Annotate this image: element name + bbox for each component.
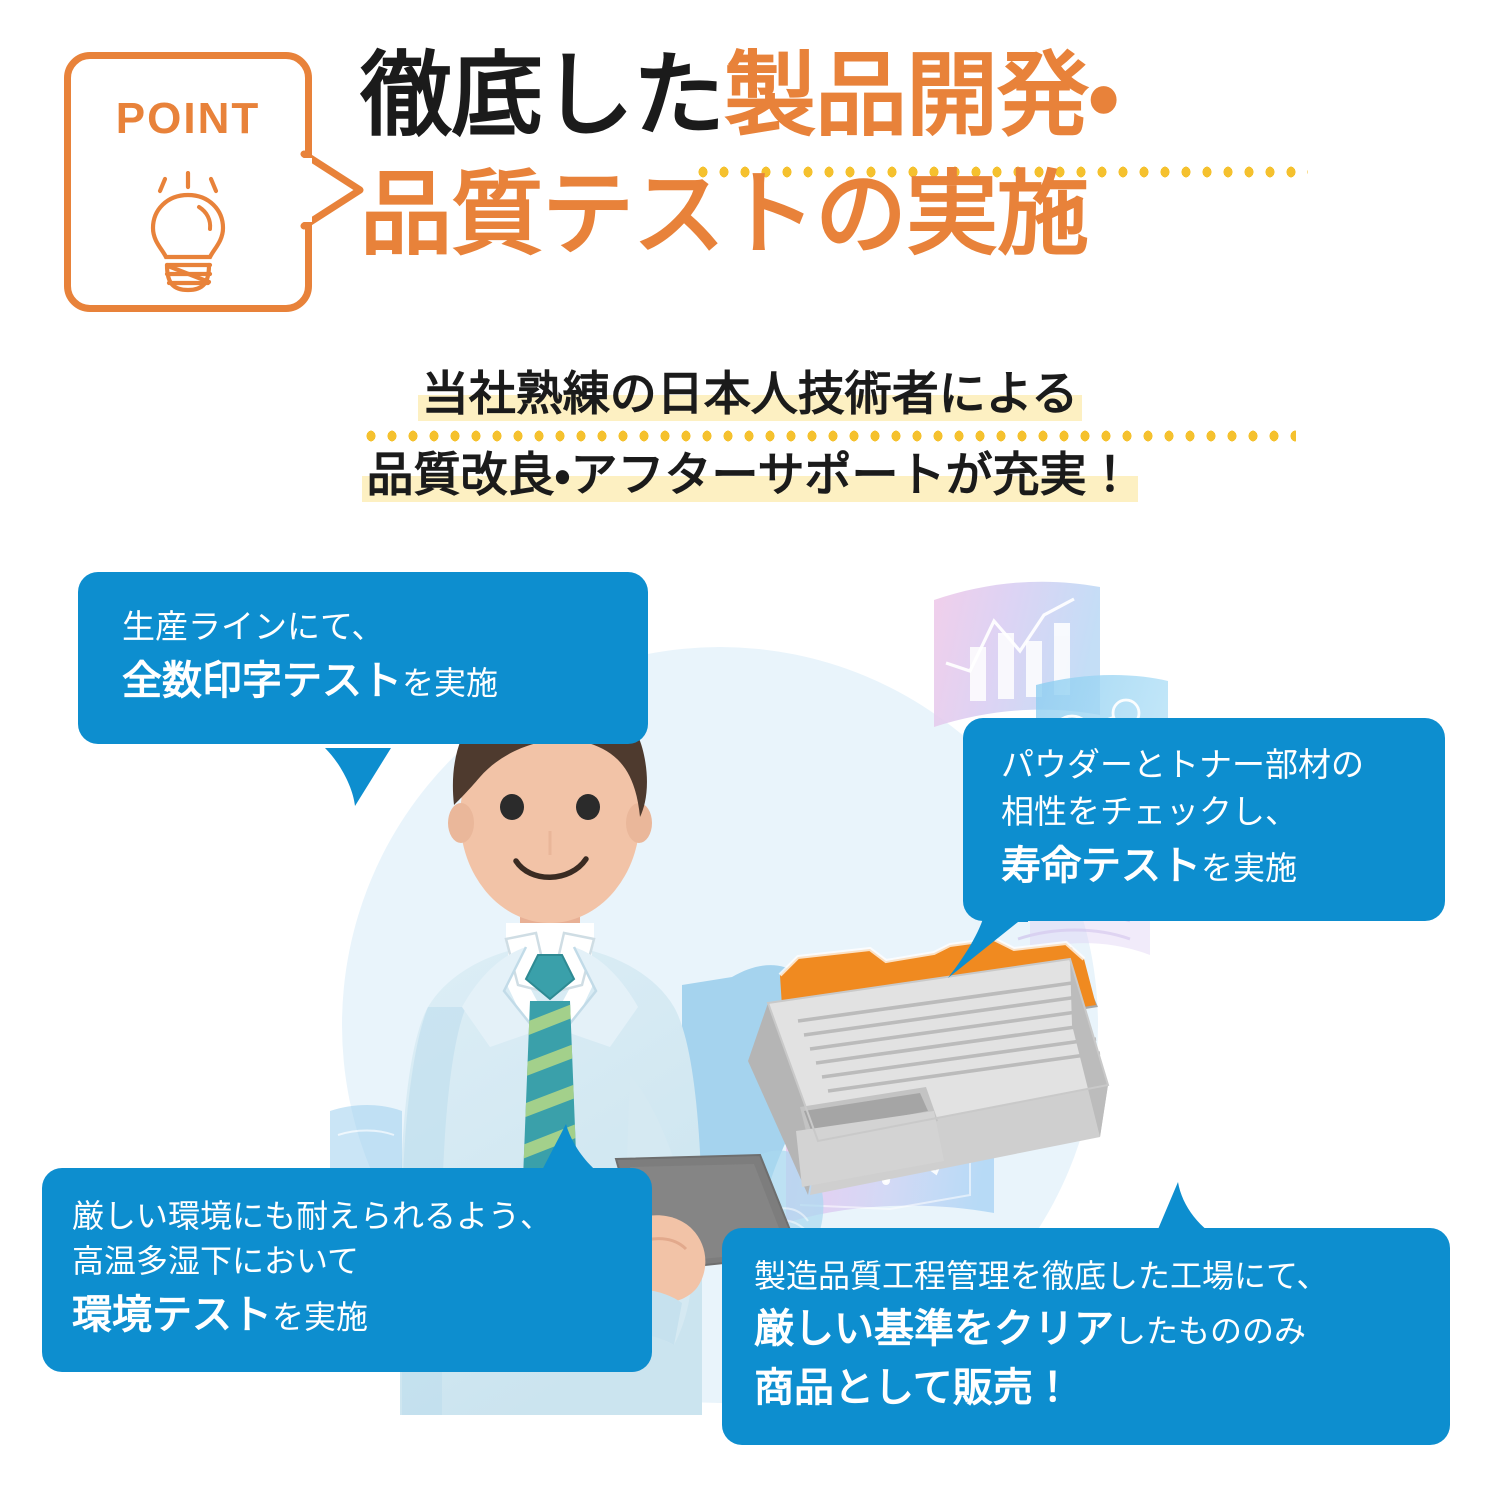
bubble-print-test: 生産ラインにて、 全数印字テストを実施 [78, 572, 648, 744]
bubble-print-line2-bold: 全数印字テスト [122, 659, 402, 703]
bubble-print-test-tail [325, 748, 395, 806]
bubble-factory-line2-bold: 厳しい基準をクリア [754, 1307, 1114, 1351]
bubble-factory-line-2: 厳しい基準をクリアしたもののみ [754, 1301, 1424, 1358]
subtitle-block: 当社熟練の日本人技術者による 品質改良・アフターサポートが充実！ [0, 362, 1500, 508]
point-badge: POINT [64, 52, 312, 312]
headline-line1-black: 徹底した [360, 45, 724, 147]
bubble-life-test: パウダーとトナー部材の 相性をチェックし、 寿命テストを実施 [963, 718, 1445, 921]
bubble-print-test-text: 生産ラインにて、 全数印字テストを実施 [78, 572, 648, 744]
bubble-env-line-1: 厳しい環境にも耐えられるよう、 [72, 1194, 626, 1239]
subtitle-line-1: 当社熟練の日本人技術者による [422, 362, 1079, 427]
bubble-life-test-text: パウダーとトナー部材の 相性をチェックし、 寿命テストを実施 [963, 718, 1445, 921]
infographic-canvas: POINT 徹底し [0, 0, 1500, 1500]
bubble-life-line3-bold: 寿命テスト [1001, 844, 1201, 888]
bubble-life-line3-tail: を実施 [1201, 850, 1297, 886]
headline-line2-orange: 品質テストの実施 [360, 164, 1088, 266]
decorative-corner-chip [330, 1105, 402, 1175]
lightbulb-icon [133, 171, 243, 296]
bubble-environment-test: 厳しい環境にも耐えられるよう、 高温多湿下において 環境テストを実施 [42, 1168, 652, 1372]
subtitle-line2-text: 品質改良・アフターサポートが充実！ [366, 448, 1133, 501]
bubble-print-line-2: 全数印字テストを実施 [122, 653, 614, 710]
bubble-life-line-3: 寿命テストを実施 [1001, 838, 1415, 895]
bubble-env-line-3: 環境テストを実施 [72, 1287, 626, 1344]
headline-line1-orange: 製品開発・ [724, 45, 1118, 147]
bubble-print-line2-tail: を実施 [402, 665, 498, 701]
bubble-env-line3-tail: を実施 [272, 1299, 368, 1335]
bubble-factory-line2-tail: したもののみ [1114, 1313, 1306, 1349]
bubble-factory-line-1: 製造品質工程管理を徹底した工場にて、 [754, 1254, 1424, 1299]
bubble-env-line3-bold: 環境テスト [72, 1293, 272, 1337]
point-badge-label: POINT [71, 97, 305, 141]
bubble-factory-quality-text: 製造品質工程管理を徹底した工場にて、 厳しい基準をクリアしたもののみ 商品として… [722, 1228, 1450, 1445]
bubble-factory-line-3: 商品として販売！ [754, 1360, 1424, 1417]
subtitle-line-2: 品質改良・アフターサポートが充実！ [366, 443, 1133, 508]
bubble-factory-quality: 製造品質工程管理を徹底した工場にて、 厳しい基準をクリアしたもののみ 商品として… [722, 1228, 1450, 1445]
eye-right [576, 794, 600, 820]
bubble-life-line-1: パウダーとトナー部材の [1001, 742, 1415, 789]
bubble-life-line-2: 相性をチェックし、 [1001, 789, 1415, 836]
headline-line-2: 品質テストの実施 [360, 167, 1440, 264]
headline: 徹底した製品開発・ 品質テストの実施 [360, 48, 1440, 263]
bubble-environment-test-text: 厳しい環境にも耐えられるよう、 高温多湿下において 環境テストを実施 [42, 1168, 652, 1372]
bubble-env-line-2: 高温多湿下において [72, 1239, 626, 1284]
headline-line-1: 徹底した製品開発・ [360, 48, 1440, 145]
bubble-print-line-1: 生産ラインにて、 [122, 604, 614, 651]
subtitle-line1-text: 当社熟練の日本人技術者による [422, 367, 1079, 420]
point-badge-tail [300, 150, 370, 230]
eye-left [500, 794, 524, 820]
